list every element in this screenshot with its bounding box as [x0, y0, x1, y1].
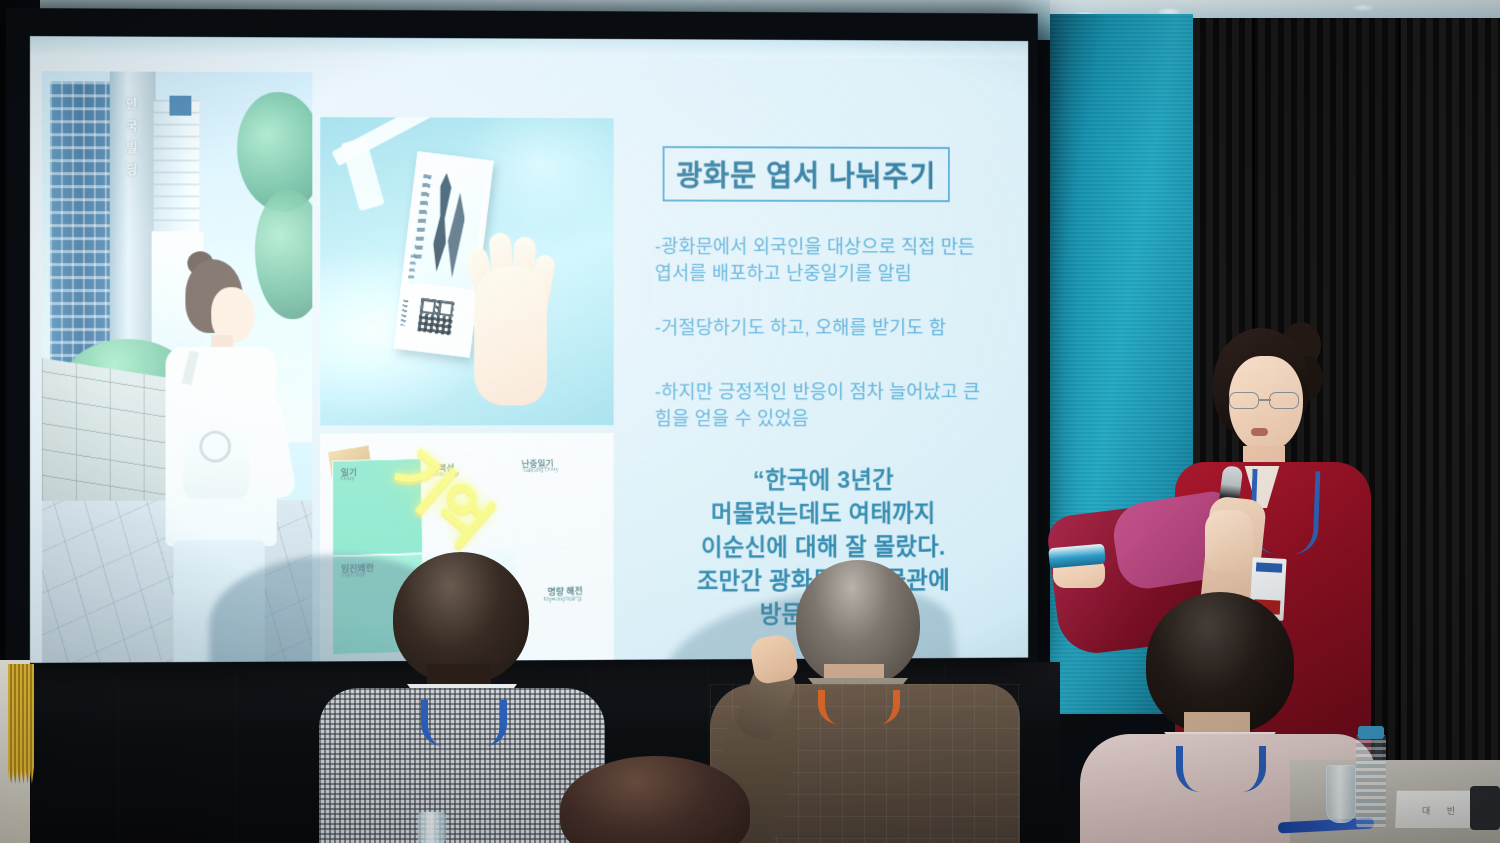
hand: [468, 225, 562, 414]
wall-seam: [1398, 18, 1401, 778]
postcard-vertical-text: [413, 174, 431, 260]
water-glass: [1326, 765, 1356, 823]
lens: [1269, 392, 1299, 409]
slide-bullet-1: -광화문에서 외국인을 대상으로 직접 만든 엽서를 배포하고 난중일기를 알림: [655, 235, 996, 289]
conference-room: 안국빌딩: [0, 0, 1500, 843]
water-bottle: [418, 812, 446, 843]
building-sign: 안국빌딩: [121, 93, 143, 181]
audience-woman-back-of-head: [560, 756, 750, 843]
lanyard: [421, 700, 507, 746]
quote-line: 머물렀는데도 여태까지: [633, 497, 1012, 532]
dark-device: [1470, 786, 1500, 830]
head: [560, 756, 750, 843]
mouth: [1251, 428, 1268, 436]
slide-title-box: 광화문 엽서 나눠주기: [663, 146, 950, 202]
flag-fringe: [8, 664, 34, 784]
slat-wall-right: [1400, 18, 1500, 778]
downlight-icon: [1352, 4, 1374, 11]
quote-line: “한국에 3년간: [633, 464, 1012, 499]
cell-sublabel: Diary: [341, 476, 355, 482]
glasses-icon: [1227, 392, 1305, 409]
lens: [1229, 392, 1259, 409]
bottle-cap: [1358, 726, 1384, 739]
lanyard: [818, 690, 900, 724]
cell-sublabel: Nanjung Diary: [522, 467, 559, 474]
slide-bullet-3: -하지만 긍정적인 반응이 점차 늘어났고 큰 힘을 얻을 수 있었음: [655, 380, 996, 434]
qr-code-icon: [417, 298, 454, 336]
raised-hand: [748, 633, 799, 686]
hand-right: [1205, 510, 1253, 572]
slide-top-edge: [30, 36, 1028, 59]
slide-photo-postcard: [320, 117, 613, 425]
postcard-caption-text: [400, 300, 408, 326]
slide-title: 광화문 엽서 나눠주기: [676, 153, 936, 195]
lanyard: [1176, 746, 1266, 792]
palm: [474, 267, 547, 406]
slide-bullet-2: -거절당하기도 하고, 오해를 받기도 함: [655, 316, 996, 343]
tote-bag: [183, 369, 249, 499]
bridge: [1259, 399, 1271, 401]
board-cell: 난중일기 Nanjung Diary: [512, 450, 607, 549]
water-bottle: [1356, 733, 1386, 828]
building-blue-panel: [169, 96, 191, 116]
